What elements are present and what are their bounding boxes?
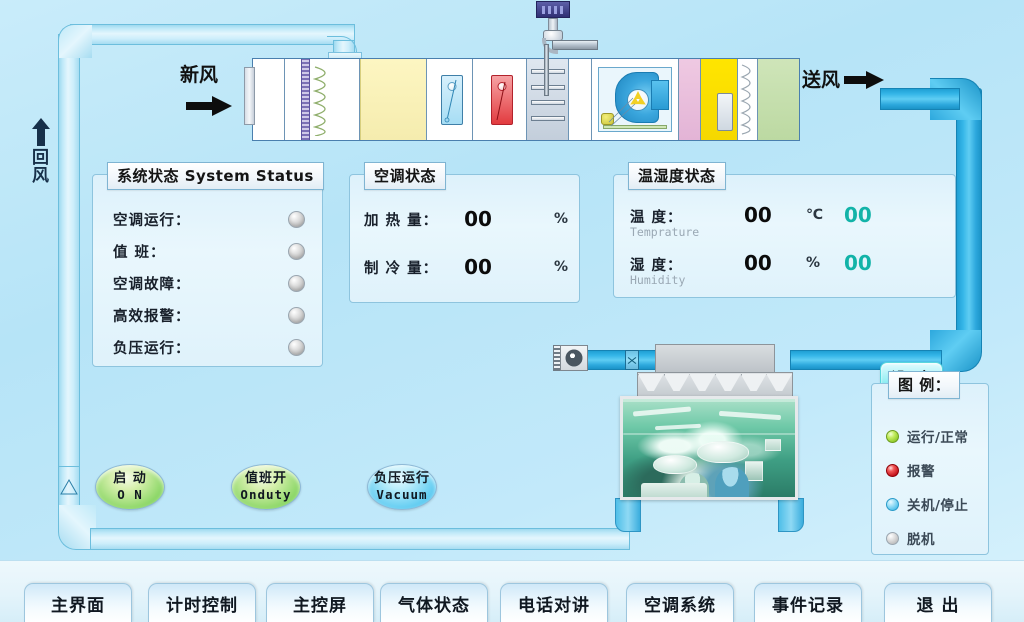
legend-dot-running-icon <box>886 430 899 443</box>
medium-filter-fill <box>360 59 426 140</box>
ahu-outlet-section <box>758 59 799 140</box>
ahu-outlet-coil-section <box>738 59 758 140</box>
hepa-pleats-icon <box>638 373 792 397</box>
temperature-row: 温 度： Temprature 00 ℃ 00 <box>630 203 942 243</box>
fresh-air-damper-icon <box>244 67 255 125</box>
or-duct-right <box>778 498 804 532</box>
onduty-button-label-cn: 值班开 <box>245 472 287 487</box>
status-led <box>288 339 305 356</box>
humidity-label: 湿 度： <box>630 254 683 275</box>
temperature-setpoint: 00 <box>844 203 872 227</box>
or-surgical-lamp-icon <box>653 455 697 474</box>
fresh-air-label: 新风 <box>180 60 218 87</box>
vacuum-button-label-cn: 负压运行 <box>374 472 430 487</box>
tab-gas-status[interactable]: 气体状态 <box>380 583 488 622</box>
humidifier-valve-assembly[interactable] <box>524 0 588 60</box>
legend-dot-stopped-icon <box>886 498 899 511</box>
status-row: 值 班： <box>113 241 305 262</box>
legend-dot-offline-icon <box>886 532 899 545</box>
return-air-label: 回风 <box>32 150 50 186</box>
ahu-heating-coil-section <box>473 59 527 140</box>
return-duct-top <box>70 24 355 45</box>
legend-label: 运行/正常 <box>907 426 968 446</box>
ac-status-panel: 空调状态 加 热 量： 00 % 制 冷 量： 00 % <box>349 174 580 303</box>
start-button-label-en: O N <box>117 487 143 502</box>
status-label: 空调故障： <box>113 273 191 294</box>
status-label: 空调运行： <box>113 209 191 230</box>
prefilter-mesh-icon <box>301 59 310 140</box>
status-led <box>288 307 305 324</box>
ahu-pink-filter-section <box>679 59 701 140</box>
humidity-setpoint: 00 <box>844 251 872 275</box>
outlet-coil-icon <box>739 63 758 136</box>
fresh-air-arrow-icon <box>186 95 232 121</box>
status-label: 负压运行： <box>113 337 191 358</box>
tab-event-log[interactable]: 事件记录 <box>754 583 862 622</box>
status-row: 高效报警： <box>113 305 305 326</box>
legend-item: 运行/正常 <box>886 426 968 446</box>
bottom-tab-bar: 主界面 计时控制 主控屏 气体状态 电话对讲 空调系统 事件记录 退 出 <box>0 560 1024 622</box>
tab-main-console[interactable]: 主控屏 <box>266 583 374 622</box>
humidity-row: 湿 度： Humidity 00 % 00 <box>630 251 942 291</box>
temp-humidity-panel: 温湿度状态 温 度： Temprature 00 ℃ 00 设 定 Set 湿 … <box>613 174 956 298</box>
valve-actuator-icon <box>536 1 570 18</box>
ac-row-label: 加 热 量： <box>364 209 438 230</box>
status-row: 空调故障： <box>113 273 305 294</box>
temperature-value: 00 <box>744 203 772 227</box>
hvac-control-screen: 新风 送风 回风 系统状态 System Status 空调运行： 值 班： 空… <box>0 0 1024 622</box>
status-led <box>288 275 305 292</box>
onduty-button-label-en: Onduty <box>240 487 291 502</box>
ac-row-label: 制 冷 量： <box>364 257 438 278</box>
valve-pipe-icon <box>552 40 598 50</box>
or-ceiling-light-icon <box>719 411 781 420</box>
tab-hvac-system[interactable]: 空调系统 <box>626 583 734 622</box>
legend-item: 报警 <box>886 460 935 480</box>
air-handling-unit <box>252 58 800 141</box>
ahu-hepa-filter-section <box>701 59 738 140</box>
legend-item: 脱机 <box>886 528 935 548</box>
supply-air-label: 送风 <box>802 65 840 92</box>
or-ceiling-light-icon <box>655 424 701 430</box>
onduty-button[interactable]: 值班开 Onduty <box>231 464 301 510</box>
or-ceiling-rail-icon <box>623 433 798 435</box>
outlet-fill <box>758 59 799 140</box>
heating-coil-icon <box>491 75 513 125</box>
return-duct-vertical <box>58 34 80 530</box>
legend-panel: 图 例： 运行/正常 报警 关机/停止 脱机 <box>871 383 989 555</box>
hepa-plenum-top <box>655 344 775 374</box>
hepa-plenum-body <box>637 372 793 398</box>
return-duct-joint <box>58 466 80 467</box>
or-surgeon-icon <box>715 467 749 500</box>
hepa-inspection-window-icon <box>717 93 733 131</box>
ac-row-value: 00 <box>464 255 492 279</box>
status-row: 负压运行： <box>113 337 305 358</box>
ac-row-value: 00 <box>464 207 492 231</box>
supply-damper-icon <box>625 350 639 370</box>
legend-title: 图 例： <box>888 371 960 399</box>
system-status-title: 系统状态 System Status <box>107 162 324 190</box>
pink-filter-fill <box>679 59 700 140</box>
legend-label: 脱机 <box>907 528 935 548</box>
ahu-fresh-air-damper-section <box>253 59 285 140</box>
return-air-text: 回风 <box>32 148 49 186</box>
or-surgical-lamp-icon <box>697 441 749 463</box>
humidity-label-en: Humidity <box>630 273 685 287</box>
tab-exit[interactable]: 退 出 <box>884 583 992 622</box>
ac-row-unit: % <box>554 211 568 227</box>
valve-downpipe-icon <box>544 44 549 96</box>
legend-label: 关机/停止 <box>907 494 968 514</box>
ac-status-row: 加 热 量： 00 % <box>364 207 568 231</box>
status-led <box>288 211 305 228</box>
return-damper-symbol <box>60 478 78 496</box>
operating-room-photo <box>620 396 798 500</box>
exhaust-fan-icon <box>560 345 588 371</box>
ahu-plenum-section <box>569 59 591 140</box>
legend-label: 报警 <box>907 460 935 480</box>
return-air-arrow-icon <box>31 118 51 150</box>
tab-intercom[interactable]: 电话对讲 <box>500 583 608 622</box>
temperature-label: 温 度： <box>630 206 683 227</box>
ac-status-title: 空调状态 <box>364 162 446 190</box>
prefilter-coil-icon <box>313 65 337 134</box>
or-table-icon <box>641 483 707 500</box>
exhaust-fan-blades-icon <box>566 350 583 367</box>
status-label: 值 班： <box>113 241 166 262</box>
ahu-cooling-coil-section <box>427 59 473 140</box>
ahu-medium-filter-section <box>360 59 427 140</box>
supply-duct-vertical <box>956 88 982 354</box>
fan-frame-icon <box>598 67 672 132</box>
vacuum-button-label-en: Vacuum <box>376 487 427 502</box>
supply-duct-from-fan <box>586 350 662 370</box>
supply-air-arrow-icon <box>844 70 884 94</box>
or-duct-left <box>615 498 641 532</box>
vacuum-button[interactable]: 负压运行 Vacuum <box>367 464 437 510</box>
legend-dot-alarm-icon <box>886 464 899 477</box>
status-led <box>288 243 305 260</box>
humidity-unit: % <box>806 255 820 271</box>
or-wall-panel-icon <box>765 439 781 451</box>
temperature-label-en: Temprature <box>630 225 699 239</box>
ac-row-unit: % <box>554 259 568 275</box>
start-button-label-cn: 启 动 <box>113 472 147 487</box>
or-ceiling-light-icon <box>633 406 691 416</box>
supply-duct-top <box>880 88 960 110</box>
ahu-fan-section <box>592 59 679 140</box>
status-row: 空调运行： <box>113 209 305 230</box>
return-duct-bottom <box>90 528 630 550</box>
humidity-value: 00 <box>744 251 772 275</box>
duct-elbow-topleft <box>58 24 92 58</box>
tab-timer-control[interactable]: 计时控制 <box>148 583 256 622</box>
legend-item: 关机/停止 <box>886 494 968 514</box>
tab-main-screen[interactable]: 主界面 <box>24 583 132 622</box>
ahu-prefilter-section <box>285 59 361 140</box>
ac-status-row: 制 冷 量： 00 % <box>364 255 568 279</box>
temp-humidity-title: 温湿度状态 <box>628 162 726 190</box>
cooling-coil-icon <box>441 75 463 125</box>
system-status-panel: 系统状态 System Status 空调运行： 值 班： 空调故障： 高效报警… <box>92 174 323 367</box>
status-label: 高效报警： <box>113 305 191 326</box>
temperature-unit: ℃ <box>806 207 823 223</box>
start-button[interactable]: 启 动 O N <box>95 464 165 510</box>
